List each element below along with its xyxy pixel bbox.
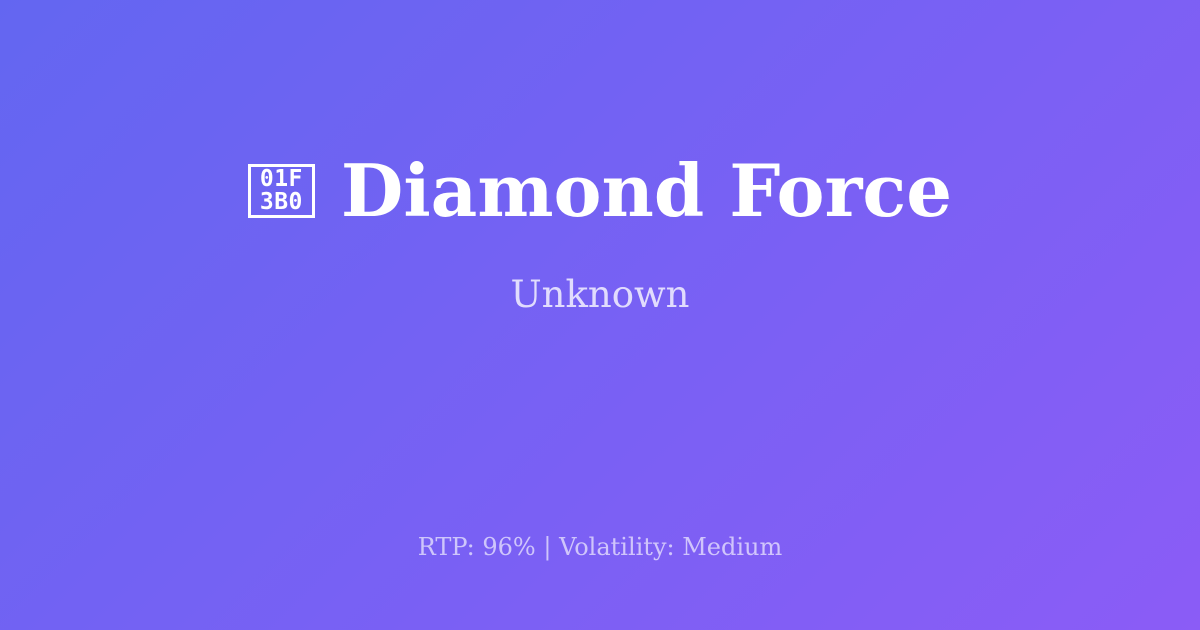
game-subtitle: Unknown	[510, 273, 689, 317]
hero-section: 01F 3B0 Diamond Force Unknown	[0, 0, 1200, 470]
slot-machine-icon: 01F 3B0	[248, 164, 315, 218]
game-title: Diamond Force	[341, 153, 952, 229]
game-og-card: 01F 3B0 Diamond Force Unknown RTP: 96% |…	[0, 0, 1200, 630]
title-row: 01F 3B0 Diamond Force	[248, 153, 952, 229]
slot-machine-icon-codepoint-low: 3B0	[260, 191, 303, 214]
slot-machine-icon-codepoint-high: 01F	[260, 168, 303, 191]
game-stats-footer: RTP: 96% | Volatility: Medium	[0, 533, 1200, 562]
